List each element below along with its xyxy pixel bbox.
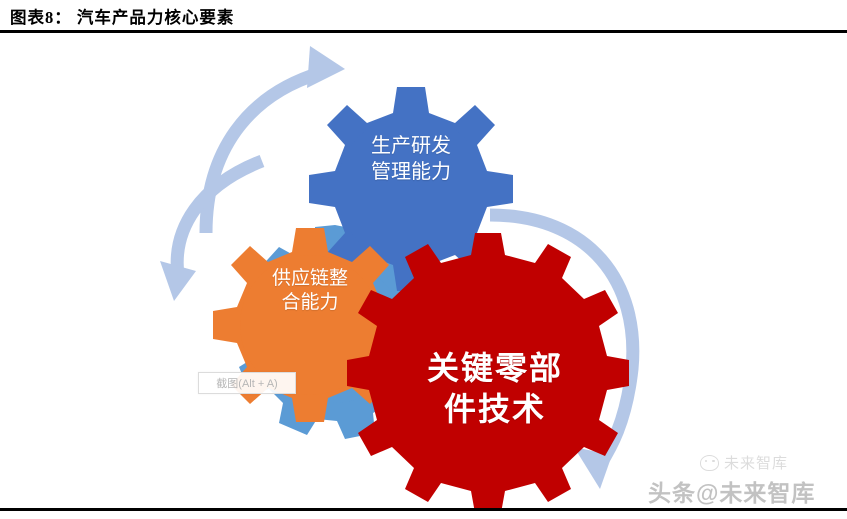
page-title: 图表8： 汽车产品力核心要素: [0, 4, 234, 28]
watermark-wechat: 未来智库: [700, 452, 788, 473]
gear-diagram: 生产研发 管理能力 供应链整 合能力 关键零部 件技术: [0, 33, 847, 508]
wechat-icon: [700, 455, 719, 471]
bottom-divider-rule: [0, 508, 847, 511]
watermark-faint-text: 未来智库: [724, 452, 788, 473]
figure-caption-bar: 图表8： 汽车产品力核心要素: [0, 0, 847, 31]
watermark-toutiao: 头条@未来智库: [648, 474, 815, 508]
gear-diagram-svg: [0, 33, 847, 508]
figure-page: 图表8： 汽车产品力核心要素: [0, 0, 847, 519]
snip-tool-tooltip[interactable]: 截图(Alt + A): [198, 372, 296, 394]
